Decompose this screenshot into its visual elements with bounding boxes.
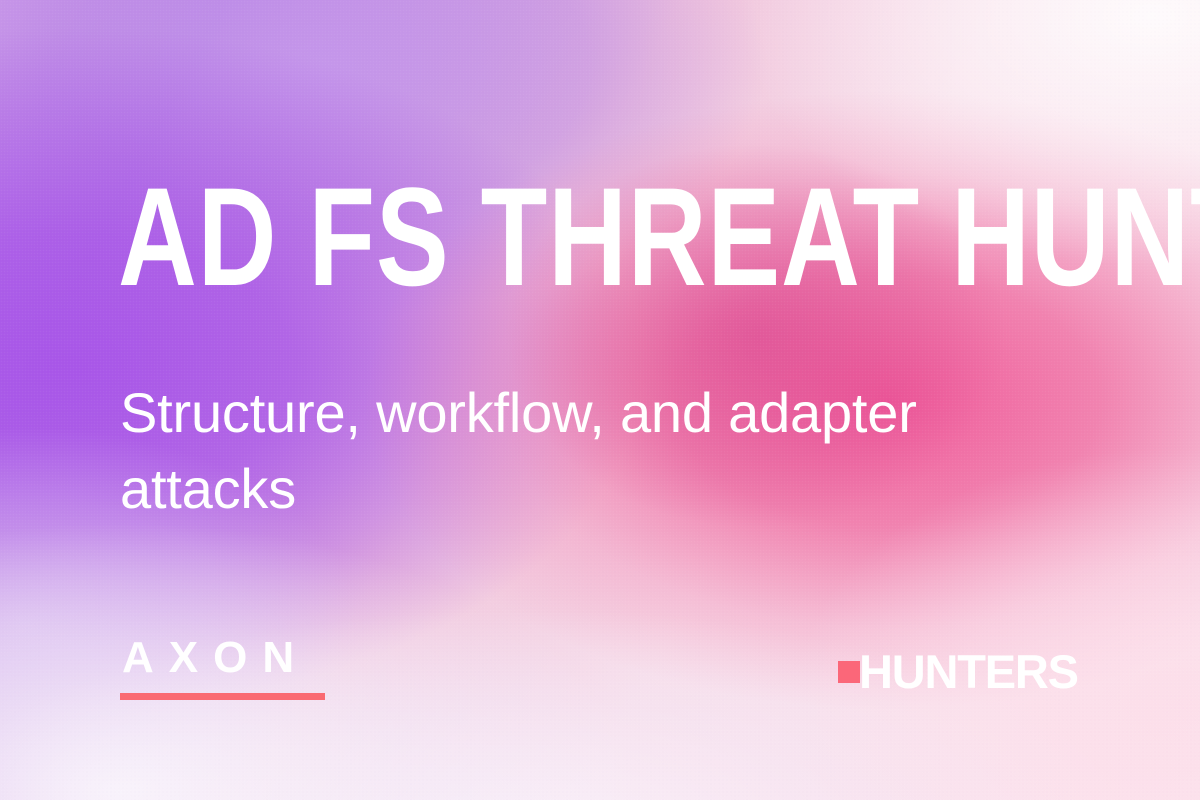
- title-slide: AD FS THREAT HUNTING Structure, workflow…: [0, 0, 1200, 800]
- hunters-wordmark: HUNTERS: [859, 648, 1078, 695]
- slide-content: AD FS THREAT HUNTING Structure, workflow…: [0, 0, 1200, 800]
- slide-subtitle: Structure, workflow, and adapter attacks: [120, 375, 960, 527]
- axon-underline-rule: [120, 693, 325, 700]
- axon-wordmark: AXON: [120, 636, 325, 680]
- hunters-square-mark-icon: [838, 661, 860, 683]
- axon-logo: AXON: [120, 636, 325, 700]
- slide-headline: AD FS THREAT HUNTING: [118, 168, 1200, 305]
- hunters-logo: HUNTERS: [838, 648, 1078, 695]
